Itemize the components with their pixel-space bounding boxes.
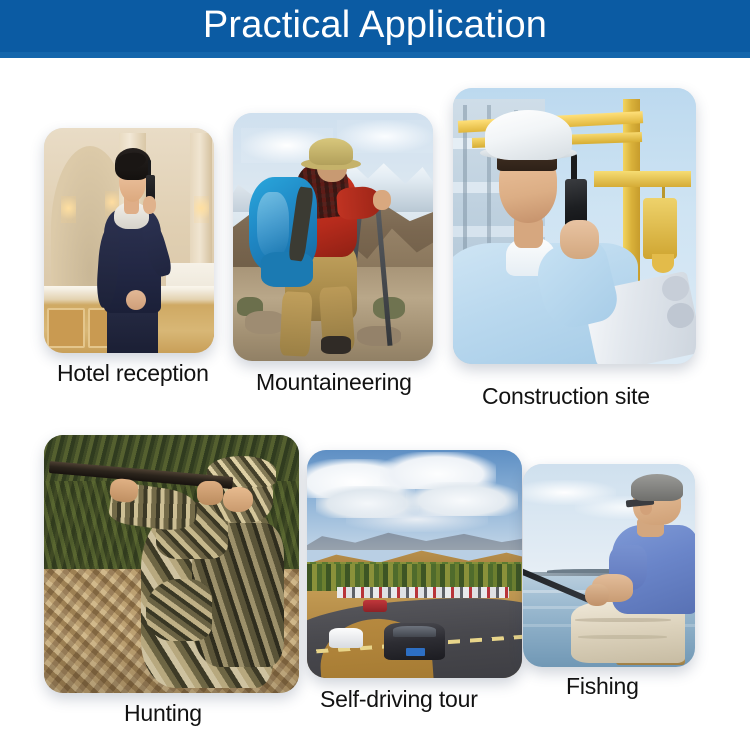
caption-hunting: Hunting [124,700,202,727]
scenario-tile-construction-site[interactable] [453,88,696,364]
caption-fishing: Fishing [566,673,639,700]
page-title: Practical Application [0,0,750,52]
hunting-photo [44,435,299,693]
mountaineering-photo [233,113,433,361]
scenario-tile-fishing[interactable] [523,464,695,667]
scenario-tile-hunting[interactable] [44,435,299,693]
scenario-tile-hotel-reception[interactable] [44,128,214,353]
caption-hotel-reception: Hotel reception [57,360,209,387]
header-band-edge [0,52,750,58]
scenario-tile-mountaineering[interactable] [233,113,433,361]
construction-site-photo [453,88,696,364]
caption-self-driving-tour: Self-driving tour [320,686,478,713]
application-scenarios-infographic: Practical Application [0,0,750,750]
hotel-reception-photo [44,128,214,353]
caption-mountaineering: Mountaineering [256,369,412,396]
fishing-photo [523,464,695,667]
self-driving-tour-photo [307,450,522,678]
caption-construction-site: Construction site [482,383,650,410]
scenario-tile-self-driving-tour[interactable] [307,450,522,678]
